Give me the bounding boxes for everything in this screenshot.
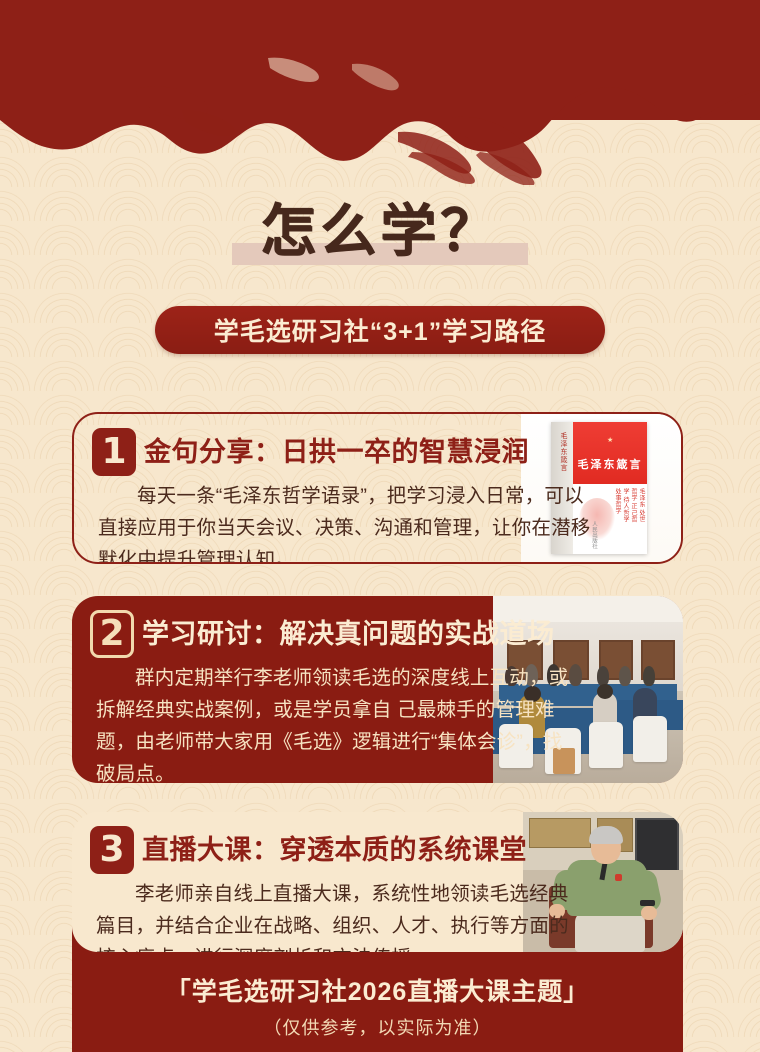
step-number-1: 1: [101, 434, 126, 470]
photo-person-watch: [640, 900, 655, 906]
step-title-2: 学习研讨：解决真问题的实战道场: [142, 612, 555, 651]
footer-main-title: 「学毛选研习社2026直播大课主题」: [72, 975, 683, 1009]
step-number-3: 3: [99, 832, 124, 868]
star-icon: ★: [607, 438, 612, 443]
step-number-badge-3: 3: [90, 826, 134, 874]
photo-chair: [633, 716, 667, 762]
book-cover-title: 毛泽东箴言: [577, 456, 643, 472]
photo-person-trousers: [575, 912, 645, 952]
learning-path-banner: 学毛选研习社“3+1”学习路径: [155, 306, 605, 354]
photo-attendee: [569, 664, 582, 686]
step-body-3: 李老师亲自线上直播大课，系统性地领读毛选经典篇目，并结合企业在战略、组织、人才、…: [96, 878, 580, 952]
poster-root: 怎么学？ 学毛选研习社“3+1”学习路径 毛泽东箴言 ★ 毛泽东箴言 毛泽东 处…: [0, 0, 760, 1052]
step-number-badge-1: 1: [92, 428, 136, 476]
book-cover-subtitle: 毛泽东 处世哲学 正己哲学 待人哲学 处事哲学: [603, 488, 645, 528]
photo-person-hair: [589, 826, 623, 844]
photo-attendee: [619, 666, 631, 686]
photo-person-badge-pin: [615, 874, 622, 881]
footer-subtitle: （仅供参考，以实际为准）: [72, 1013, 683, 1043]
brush-stroke-edge-icon: [0, 0, 760, 185]
photo-attendee: [597, 666, 609, 686]
photo-chair: [589, 722, 623, 768]
photo-person-hand-right: [641, 906, 657, 920]
book-cover-red-panel: [573, 422, 647, 484]
step-card-2: 2 学习研讨：解决真问题的实战道场 群内定期举行李老师领读毛选的深度线上互动，或…: [72, 596, 683, 783]
step-title-3: 直播大课：穿透本质的系统课堂: [142, 828, 527, 867]
top-brush-band: [0, 0, 760, 185]
learning-path-banner-label: 学毛选研习社“3+1”学习路径: [214, 312, 546, 348]
footer-text-block: 「学毛选研习社2026直播大课主题」 （仅供参考，以实际为准）: [72, 975, 683, 1043]
step-body-2: 群内定期举行李老师领读毛选的深度线上互动，或拆解经典实战案例，或是学员拿自 己最…: [96, 662, 570, 783]
step-card-3: 3 直播大课：穿透本质的系统课堂 李老师亲自线上直播大课，系统性地领读毛选经典篇…: [72, 812, 683, 952]
step-number-badge-2: 2: [90, 610, 134, 658]
step-title-1: 金句分享：日拱一卒的智慧浸润: [144, 430, 529, 469]
photo-plaque: [529, 818, 591, 848]
step-body-1: 每天一条“毛泽东哲学语录”，把学习浸入日常，可以直接应用于你当天会议、决策、沟通…: [98, 480, 598, 564]
book-spine-title: 毛泽东箴言: [556, 432, 568, 472]
headline-block: 怎么学？: [0, 196, 760, 268]
step-card-1: 毛泽东箴言 ★ 毛泽东箴言 毛泽东 处世哲学 正己哲学 待人哲学 处事哲学 人民…: [72, 412, 683, 564]
photo-attendee: [643, 666, 655, 686]
photo-attendee-head: [597, 684, 613, 699]
step-number-2: 2: [99, 616, 124, 652]
page-title: 怎么学？: [0, 196, 760, 268]
